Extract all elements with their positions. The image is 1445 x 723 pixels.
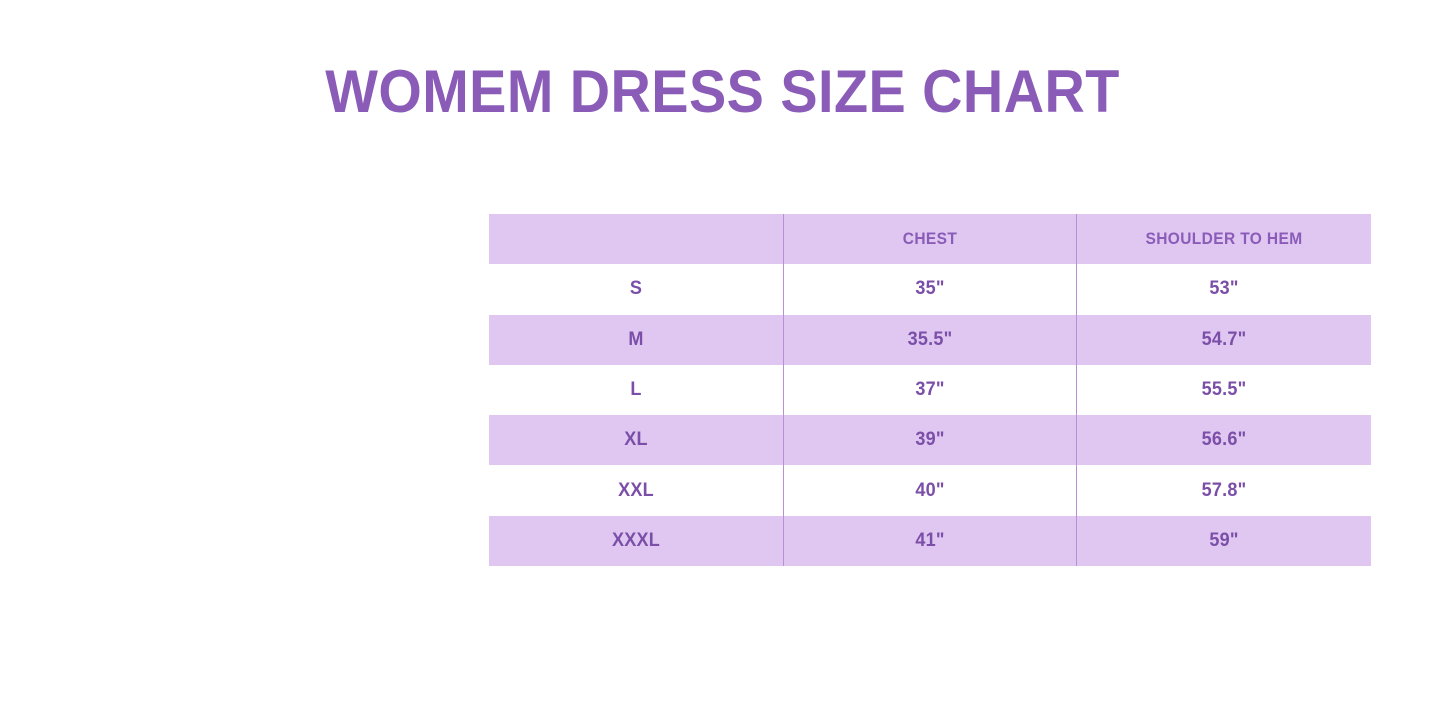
table-body: S 35" 53" M 35.5" 54.7" L 37" 55.5" XL 3… [489,264,1371,566]
cell-shoulder-to-hem: 57.8" [1084,465,1363,515]
table-row: XXL 40" 57.8" [489,465,1371,515]
cell-size: L [496,365,775,415]
table-header-row: CHEST SHOULDER TO HEM [489,214,1371,264]
cell-size: XXL [496,465,775,515]
cell-shoulder-to-hem: 54.7" [1084,315,1363,365]
page-title: WOMEM DRESS SIZE CHART [51,56,1395,128]
cell-chest: 37" [790,365,1069,415]
column-header-size [498,214,774,264]
cell-chest: 40" [790,465,1069,515]
cell-chest: 35" [790,264,1069,314]
table-row: L 37" 55.5" [489,365,1371,415]
column-header-shoulder-to-hem: SHOULDER TO HEM [1086,214,1362,264]
cell-size: S [496,264,775,314]
cell-shoulder-to-hem: 53" [1084,264,1363,314]
table-row: S 35" 53" [489,264,1371,314]
cell-shoulder-to-hem: 59" [1084,516,1363,566]
column-header-chest: CHEST [792,214,1068,264]
cell-shoulder-to-hem: 56.6" [1084,415,1363,465]
cell-size: M [496,315,775,365]
cell-chest: 35.5" [790,315,1069,365]
size-chart-page: WOMEM DRESS SIZE CHART CHEST SHOULDER TO… [0,0,1445,723]
table-row: M 35.5" 54.7" [489,315,1371,365]
size-chart-table: CHEST SHOULDER TO HEM S 35" 53" M 35.5" … [489,214,1371,566]
cell-shoulder-to-hem: 55.5" [1084,365,1363,415]
cell-size: XXXL [496,516,775,566]
cell-chest: 41" [790,516,1069,566]
table-row: XXXL 41" 59" [489,516,1371,566]
cell-chest: 39" [790,415,1069,465]
cell-size: XL [496,415,775,465]
table-row: XL 39" 56.6" [489,415,1371,465]
